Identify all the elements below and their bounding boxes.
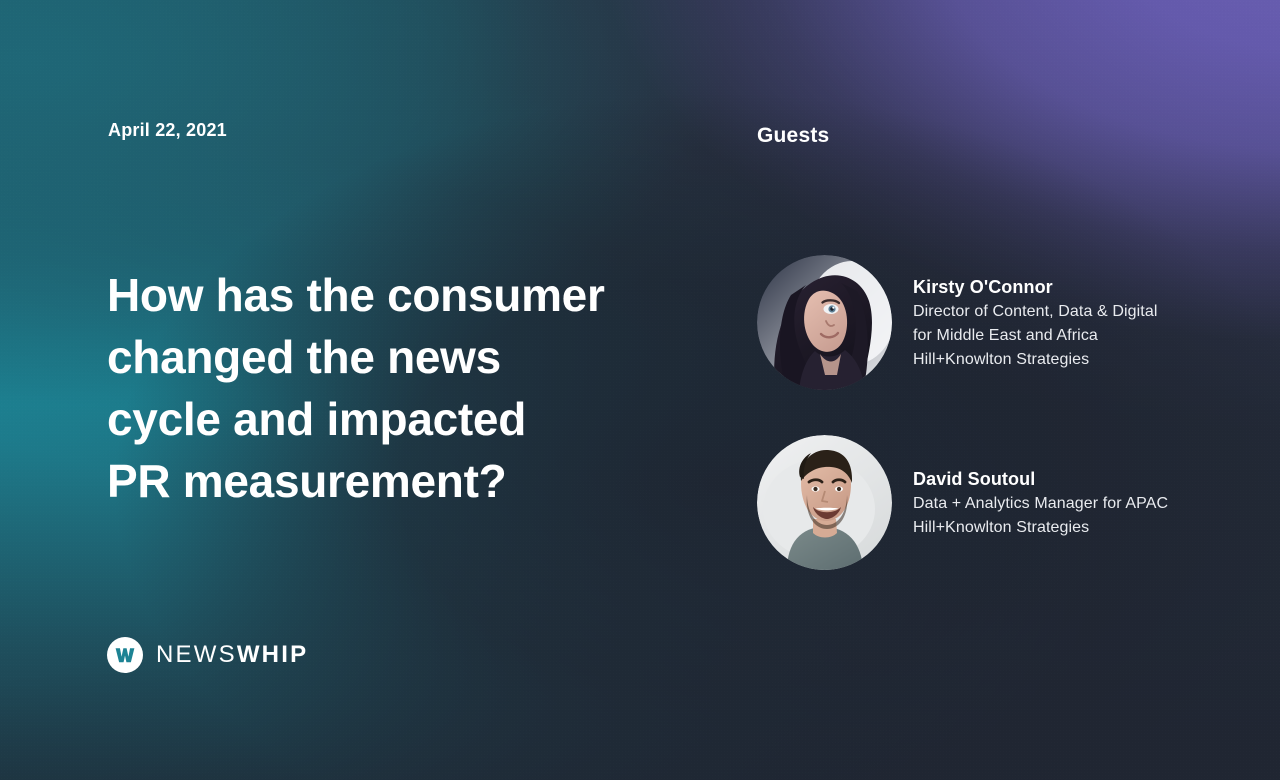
headline-line-4: PR measurement? — [107, 450, 747, 512]
guest-detail-line: Hill+Knowlton Strategies — [913, 516, 1168, 540]
avatar — [757, 255, 892, 390]
headline-line-3: cycle and impacted — [107, 388, 747, 450]
headline-line-2: changed the news — [107, 326, 747, 388]
headline-line-1: How has the consumer — [107, 264, 747, 326]
logo-word-whip: WHIP — [237, 641, 308, 669]
avatar — [757, 435, 892, 570]
webinar-title-slide: April 22, 2021 How has the consumer chan… — [0, 0, 1280, 780]
slide-date: April 22, 2021 — [108, 120, 227, 141]
guest-name: David Soutoul — [913, 469, 1168, 490]
guest-info: Kirsty O'Connor Director of Content, Dat… — [892, 255, 1158, 372]
guest-info: David Soutoul Data + Analytics Manager f… — [892, 435, 1168, 540]
logo-word-news: NEWS — [156, 641, 237, 669]
guest-name: Kirsty O'Connor — [913, 277, 1158, 298]
slide-headline: How has the consumer changed the news cy… — [107, 264, 747, 512]
guest-detail-line: for Middle East and Africa — [913, 324, 1158, 348]
slide-content: April 22, 2021 How has the consumer chan… — [0, 0, 1280, 780]
newswhip-w-mark-icon — [107, 637, 143, 673]
newswhip-logo: NEWSWHIP — [107, 637, 308, 673]
guest-detail-line: Data + Analytics Manager for APAC — [913, 492, 1168, 516]
guest-list: Kirsty O'Connor Director of Content, Dat… — [757, 255, 1227, 570]
guest-detail-line: Hill+Knowlton Strategies — [913, 348, 1158, 372]
newswhip-wordmark: NEWSWHIP — [156, 641, 308, 669]
guest-detail-line: Director of Content, Data & Digital — [913, 300, 1158, 324]
guest-item: Kirsty O'Connor Director of Content, Dat… — [757, 255, 1227, 390]
guests-heading: Guests — [757, 124, 829, 148]
guest-item: David Soutoul Data + Analytics Manager f… — [757, 435, 1227, 570]
